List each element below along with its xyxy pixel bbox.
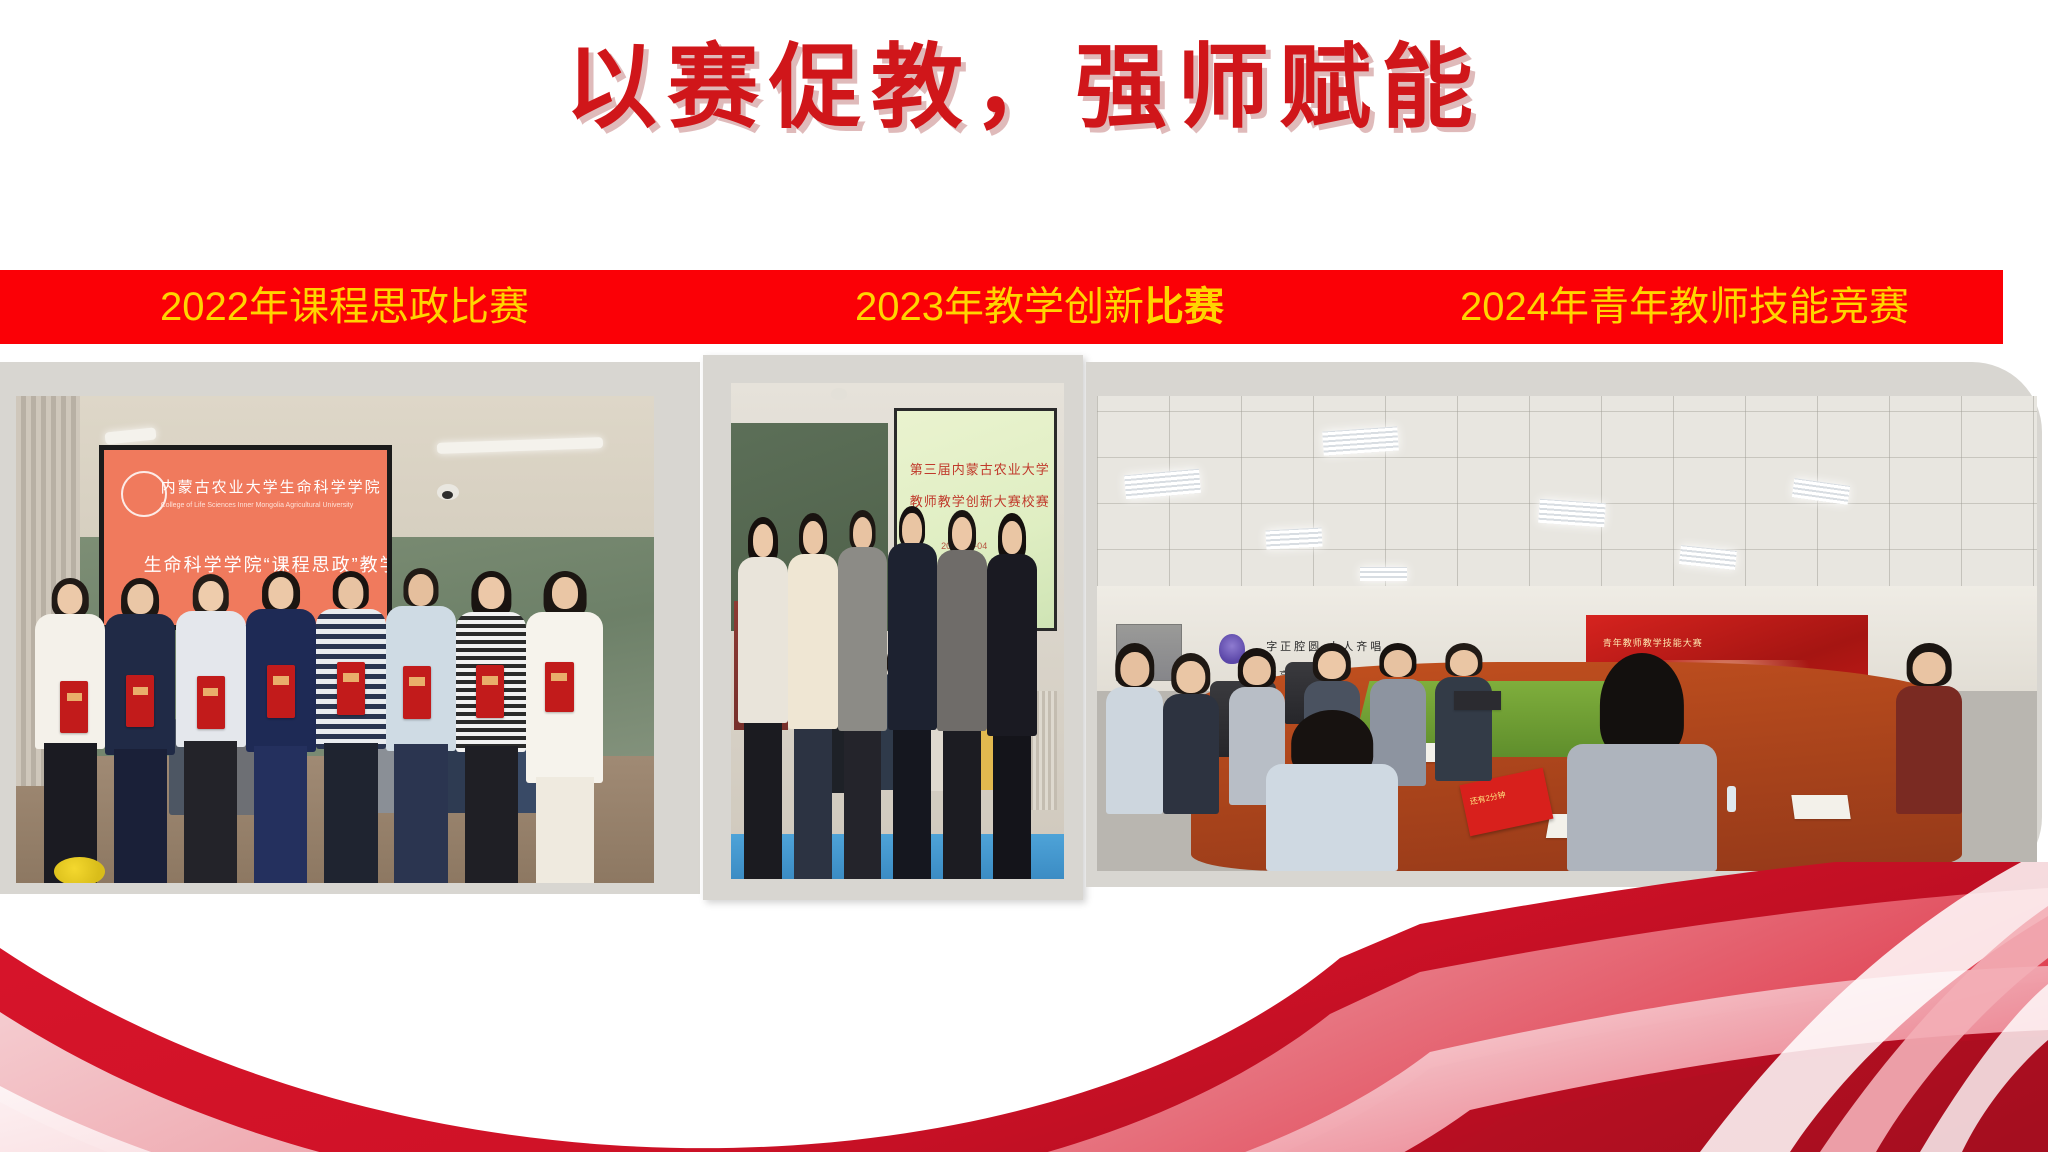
photo3-laptop [1454, 691, 1501, 710]
person-front-6 [386, 568, 456, 883]
photo3-attendee-2 [1163, 653, 1219, 815]
person-front-5 [316, 571, 386, 883]
photo3-light-3 [1266, 528, 1323, 550]
photo3-foreground-person-right [1567, 653, 1717, 872]
photo3-paper-3 [1791, 795, 1851, 819]
presentation-slide: 以赛促教，强师赋能 2022年课程思政比赛 2023年教学创新比赛 2024年青… [0, 0, 2048, 1152]
photo2-dome-camera-icon [831, 388, 847, 400]
red-ribbon-wave-decoration [0, 862, 2048, 1152]
photo1-security-camera [437, 484, 459, 500]
banner-label-2024: 2024年青年教师技能竞赛 [1460, 287, 1909, 327]
photo3-ceiling-grid [1097, 396, 2037, 596]
person-front-8 [526, 571, 603, 883]
photo1-screen-org-cn: 内蒙古农业大学生命科学学院 [161, 476, 382, 497]
photo-teaching-innovation-group: 第三届内蒙古农业大学 教师教学创新大赛校赛 2023-03-04 [731, 383, 1064, 879]
page-title: 以赛促教，强师赋能 [0, 38, 2048, 139]
photo3-attendee-1 [1106, 643, 1162, 814]
person-f6 [987, 513, 1037, 879]
banner-label-2023: 2023年教学创新比赛 [855, 287, 1224, 327]
person-f4 [888, 506, 938, 879]
photo-course-ideology-award: 内蒙古农业大学生命科学学院 College of Life Sciences I… [16, 396, 654, 883]
person-f1 [738, 517, 788, 879]
person-f2 [788, 513, 838, 879]
photo2-people-group [731, 502, 1064, 879]
banner-label-2023-emphasis: 比赛 [1144, 285, 1224, 329]
section-label-banner: 2022年课程思政比赛 2023年教学创新比赛 2024年青年教师技能竞赛 [0, 270, 2003, 344]
banner-label-2023-text: 2023年教学创新 [855, 285, 1144, 329]
photo3-attendee-7 [1896, 643, 1962, 814]
photo3-light-4 [1360, 567, 1407, 581]
photo3-attendee-6 [1435, 643, 1491, 781]
person-f5 [937, 510, 987, 879]
photo-young-teacher-skills-room: 字正腔圆 人人齐唱 德高行 走走不走 青年教师教学技能大赛 还有2分钟 [1097, 396, 2037, 871]
person-front-1 [35, 578, 105, 883]
photo1-people-group [16, 562, 654, 883]
person-front-2 [105, 578, 175, 883]
photo2-screen-line1: 第三届内蒙古农业大学 [910, 459, 1050, 478]
photo3-desk-sign-text: 还有2分钟 [1468, 789, 1506, 807]
photo1-screen-org-en: College of Life Sciences Inner Mongolia … [161, 502, 354, 509]
person-front-7 [456, 571, 526, 883]
photo3-bottle-2 [1727, 786, 1736, 812]
photo3-light-5 [1538, 498, 1605, 526]
person-front-4 [246, 571, 316, 883]
photo3-led-text: 青年教师教学技能大赛 [1603, 636, 1703, 649]
banner-label-2022: 2022年课程思政比赛 [160, 287, 529, 327]
person-f3 [838, 510, 888, 879]
person-front-3 [176, 574, 246, 883]
photo3-foreground-person-left [1266, 710, 1398, 872]
